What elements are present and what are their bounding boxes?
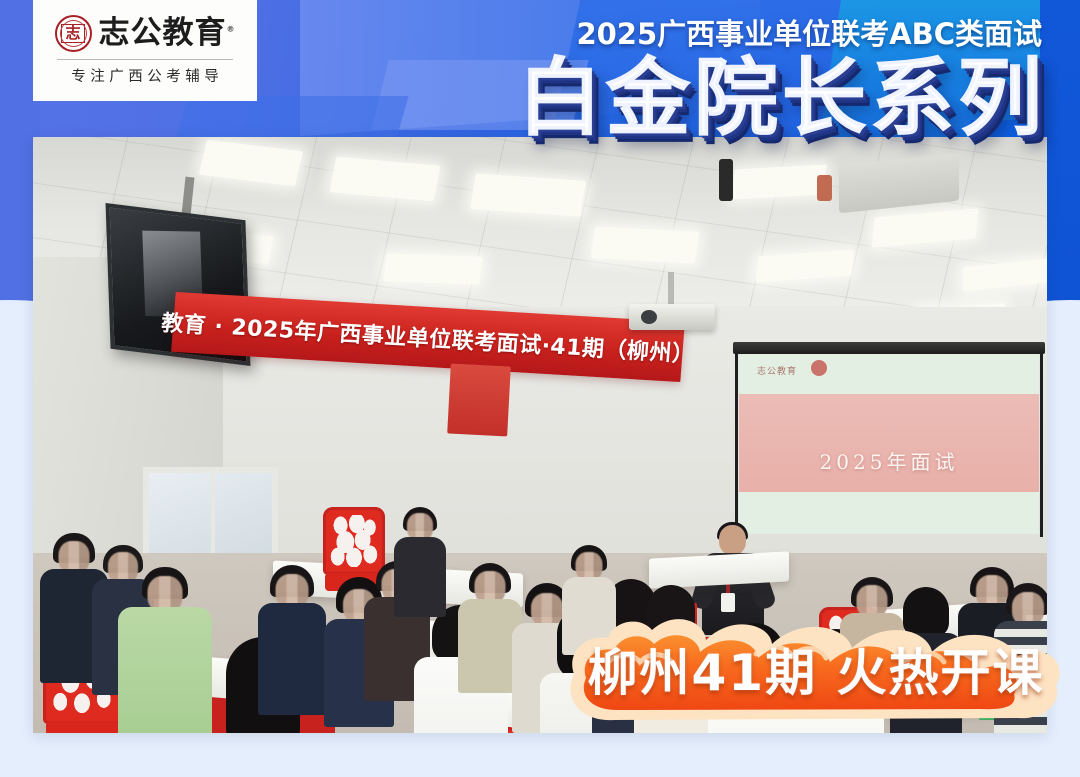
course-start-banner: 柳州41期 火热开课 (556, 608, 1076, 733)
projection-screen: 志公教育 2025年面试 (739, 354, 1039, 534)
slide-title-text: 2025年面试 (739, 446, 1039, 475)
registered-mark: ® (227, 25, 236, 34)
brand-seal-char: 志 (61, 24, 84, 43)
chair-seat (46, 721, 118, 733)
student (257, 565, 327, 715)
brand-name: 志公教育® (99, 18, 236, 49)
brand-divider (57, 59, 233, 60)
ceiling-light-panel (383, 253, 483, 284)
ceiling-light-panel (591, 226, 699, 263)
ceiling-light-panel (470, 173, 586, 216)
red-standee (447, 363, 511, 436)
student-body (394, 537, 446, 617)
brand-seal-icon: 志 (55, 15, 92, 52)
course-start-banner-text: 柳州41期 火热开课 (556, 608, 1076, 733)
slide-seal-icon (811, 360, 827, 376)
brand-tagline: 专注广西公考辅导 (67, 65, 224, 86)
page-title: 白金院长系列 (518, 56, 1046, 142)
projector-mount (668, 272, 674, 308)
student (393, 507, 447, 617)
brand-logo-card: 志 志公教育® 专注广西公考辅导 (33, 0, 257, 101)
ceiling-camera-icon (719, 159, 733, 201)
slide-logo-text: 志公教育 (757, 364, 797, 377)
ceiling-light-panel (731, 164, 827, 199)
brand-logo-row: 志 志公教育® (55, 15, 236, 52)
slide-bottom-band (739, 492, 1039, 534)
header-kicker: 2025广西事业单位联考ABC类面试 (576, 20, 1042, 49)
screen-cord-left (735, 354, 738, 537)
projection-screen-assembly: 志公教育 2025年面试 (733, 342, 1045, 537)
slide-middle-band (739, 394, 1039, 492)
student-body (258, 603, 326, 715)
screen-cord-right (1040, 354, 1043, 537)
projector (629, 304, 715, 330)
screen-roller (733, 342, 1045, 354)
ceiling-speaker (817, 175, 832, 201)
brand-name-text: 志公教育 (99, 15, 227, 51)
poster-canvas: 志 志公教育® 专注广西公考辅导 2025广西事业单位联考ABC类面试 白金院长… (0, 0, 1080, 777)
instructor-head (719, 525, 746, 555)
